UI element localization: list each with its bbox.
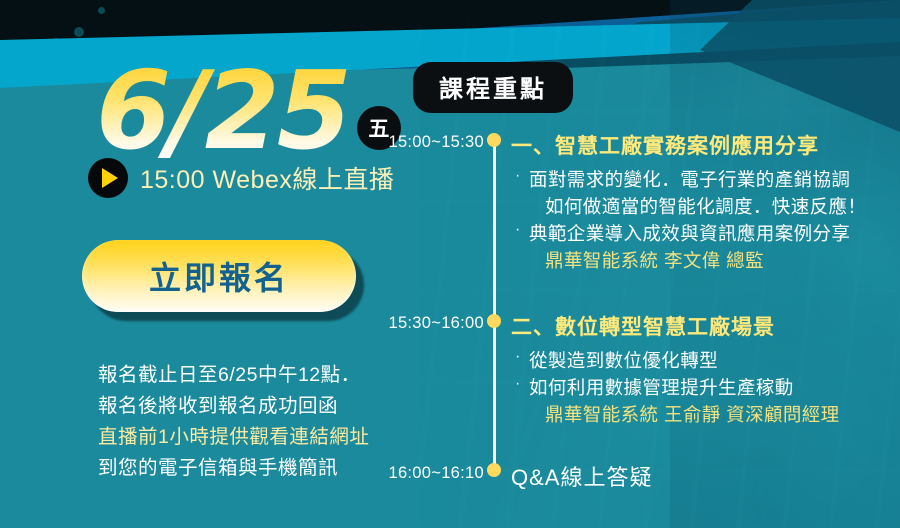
session-title: 一、智慧工廠實務案例應用分享 <box>511 130 900 160</box>
bullet-dot-icon: · <box>515 343 521 370</box>
registration-notes: 報名截止日至6/25中午12點． 報名後將收到報名成功回函 直播前1小時提供觀看… <box>98 360 388 484</box>
session-item: ·面對需求的變化．電子行業的產銷協調 <box>511 166 900 193</box>
live-info-row: 15:00 Webex線上直播 <box>88 158 394 198</box>
bullet-dot-icon: · <box>515 162 521 189</box>
session-body: 二、數位轉型智慧工廠場景 ·從製造到數位優化轉型 ·如何利用數據管理提升生產稼動… <box>511 311 900 429</box>
event-date: 6/25 <box>96 60 349 164</box>
timeline-dot <box>487 314 501 328</box>
session-item-text: 從製造到數位優化轉型 <box>529 350 718 371</box>
note-line: 報名後將收到報名成功回函 <box>98 391 388 422</box>
event-date-row: 6/25 五 <box>96 60 401 164</box>
note-line: 直播前1小時提供觀看連結網址 <box>98 422 388 453</box>
session-body: 一、智慧工廠實務案例應用分享 ·面對需求的變化．電子行業的產銷協調 如何做適當的… <box>511 130 900 275</box>
session-item: ·從製造到數位優化轉型 <box>511 347 900 374</box>
register-button-label: 立即報名 <box>149 253 289 299</box>
webinar-poster: 6/25 五 15:00 Webex線上直播 立即報名 報名截止日至6/25中午… <box>0 0 900 528</box>
session-item: 如何做適當的智能化調度．快速反應！ <box>511 193 900 220</box>
bullet-dot-icon: · <box>515 370 521 397</box>
session-item-text: 如何利用數據管理提升生產稼動 <box>529 377 794 398</box>
session-title: 二、數位轉型智慧工廠場景 <box>511 311 900 341</box>
timeline-line <box>493 140 496 473</box>
register-button[interactable]: 立即報名 <box>82 240 356 312</box>
session-title: Q&A線上答疑 <box>511 460 900 492</box>
session-item-text: 如何做適當的智能化調度．快速反應！ <box>545 196 866 217</box>
timeline-dot <box>487 133 501 147</box>
play-icon <box>88 158 128 198</box>
session-time: 15:30~16:00 <box>384 314 484 333</box>
note-line: 到您的電子信箱與手機簡訊 <box>98 453 388 484</box>
live-text: 15:00 Webex線上直播 <box>140 160 394 196</box>
timeline-dot <box>487 463 501 477</box>
session-body: Q&A線上答疑 <box>511 460 900 492</box>
session-speaker: 鼎華智能系統 李文偉 總監 <box>511 247 900 275</box>
right-panel: 課程重點 15:00~15:30 一、智慧工廠實務案例應用分享 ·面對需求的變化… <box>380 0 900 528</box>
session-item: ·典範企業導入成效與資訊應用案例分享 <box>511 220 900 247</box>
note-line: 報名截止日至6/25中午12點． <box>98 360 388 391</box>
session-item-text: 面對需求的變化．電子行業的產銷協調 <box>529 169 850 190</box>
session-speaker: 鼎華智能系統 王俞靜 資深顧問經理 <box>511 401 900 429</box>
session-time: 16:00~16:10 <box>384 464 484 483</box>
agenda-badge: 課程重點 <box>413 62 573 113</box>
session-item: ·如何利用數據管理提升生產稼動 <box>511 374 900 401</box>
session-item-text: 典範企業導入成效與資訊應用案例分享 <box>529 223 850 244</box>
bullet-dot-icon: · <box>515 216 521 243</box>
left-panel: 6/25 五 15:00 Webex線上直播 立即報名 報名截止日至6/25中午… <box>0 0 390 528</box>
session-time: 15:00~15:30 <box>384 133 484 152</box>
register-cta-wrapper: 立即報名 <box>82 240 356 312</box>
